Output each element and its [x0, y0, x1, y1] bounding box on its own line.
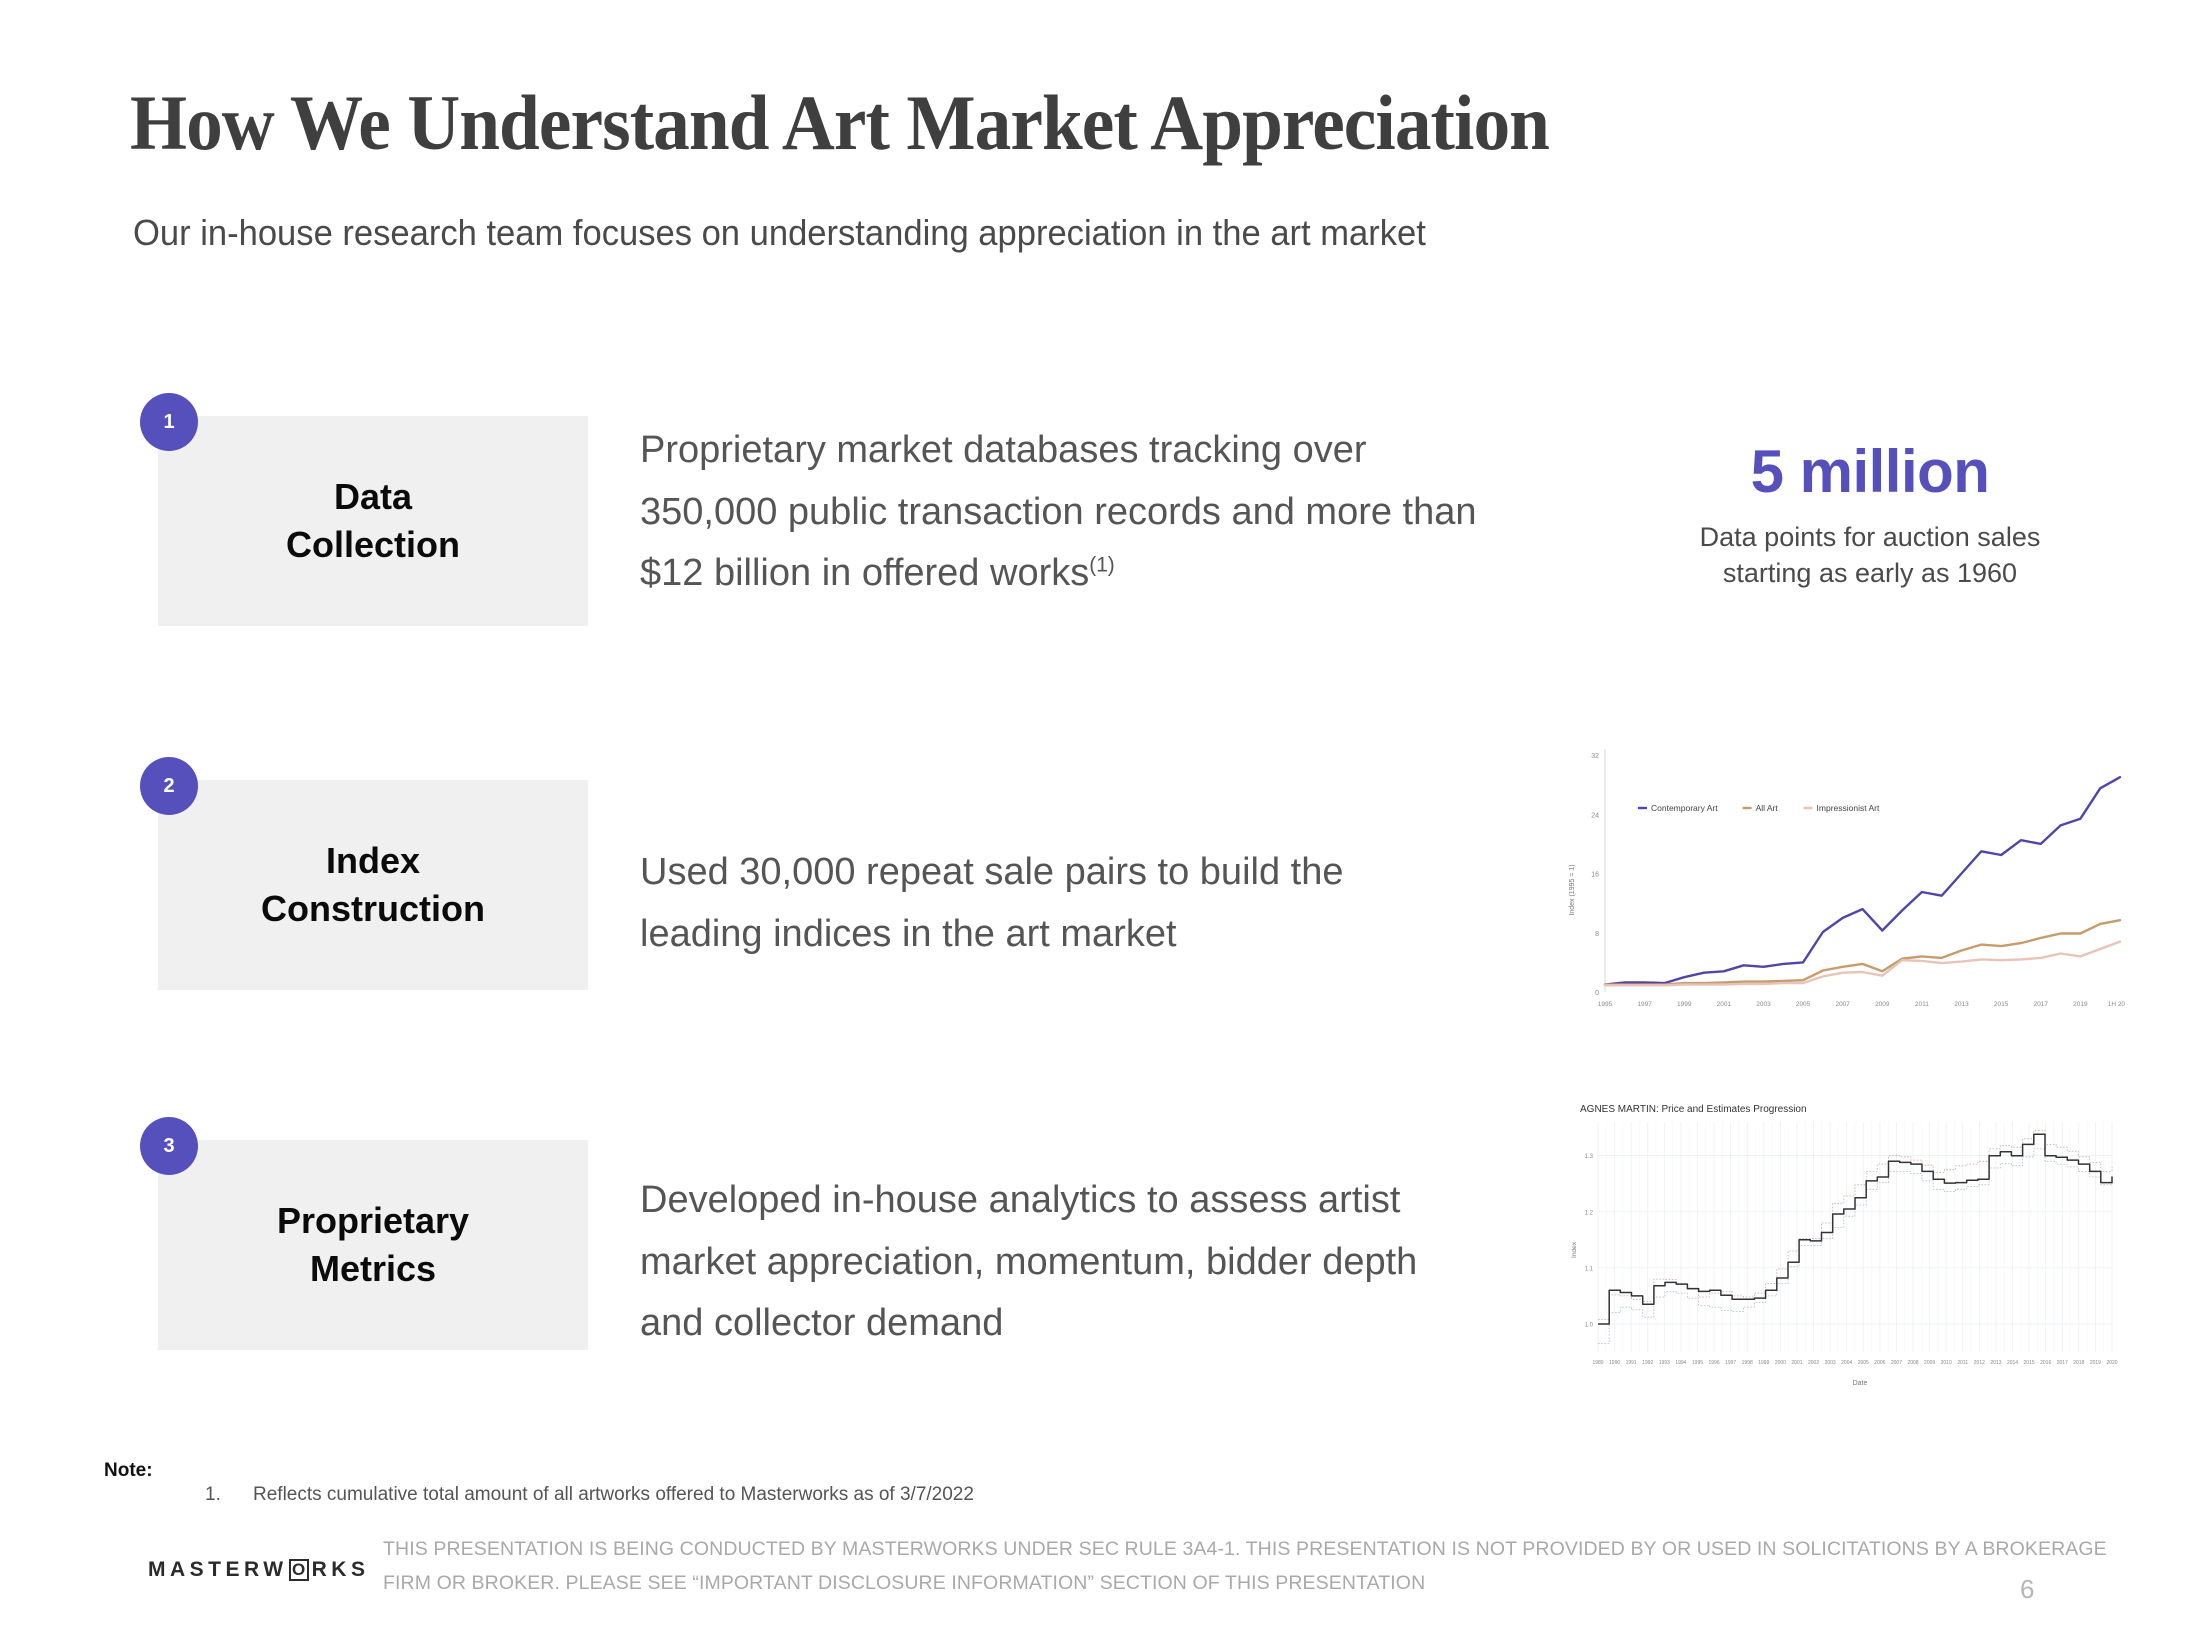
svg-text:All Art: All Art	[1756, 803, 1779, 813]
svg-text:1994: 1994	[1675, 1360, 1686, 1366]
svg-text:1.2: 1.2	[1585, 1210, 1594, 1216]
step-description-3: Developed in-house analytics to assess a…	[640, 1170, 1540, 1355]
agnes-martin-chart: AGNES MARTIN: Price and Estimates Progre…	[1560, 1090, 2125, 1390]
masterworks-logo: MASTERWORKS	[148, 1558, 369, 1582]
logo-text-after: RKS	[312, 1558, 370, 1582]
svg-text:2003: 2003	[1756, 1001, 1771, 1008]
svg-text:2005: 2005	[1796, 1001, 1811, 1008]
index-chart-axes: 0816243219951997199920012003200520072009…	[1591, 749, 2125, 1008]
svg-text:1995: 1995	[1692, 1360, 1703, 1366]
svg-text:2011: 2011	[1915, 1001, 1929, 1008]
svg-text:2005: 2005	[1858, 1360, 1869, 1366]
index-chart-ylabel: Index (1995 = 1)	[1569, 864, 1576, 915]
svg-text:2004: 2004	[1841, 1360, 1852, 1366]
agnes-martin-svg: AGNES MARTIN: Price and Estimates Progre…	[1560, 1090, 2125, 1390]
svg-text:1989: 1989	[1592, 1360, 1603, 1366]
svg-text:2012: 2012	[1974, 1360, 1985, 1366]
svg-text:2009: 2009	[1924, 1360, 1935, 1366]
agnes-martin-grid	[1598, 1122, 2112, 1352]
svg-text:2015: 2015	[2024, 1360, 2035, 1366]
svg-text:16: 16	[1591, 872, 1599, 879]
page-title: How We Understand Art Market Appreciatio…	[130, 78, 1549, 168]
step-badge-3: 3	[140, 1117, 198, 1175]
svg-text:2006: 2006	[1874, 1360, 1885, 1366]
svg-text:2009: 2009	[1875, 1001, 1890, 1008]
svg-text:32: 32	[1591, 753, 1599, 760]
step-box-1: Data Collection	[158, 416, 588, 626]
svg-text:2013: 2013	[1990, 1360, 2001, 1366]
svg-text:1999: 1999	[1677, 1001, 1692, 1008]
step-box-3: Proprietary Metrics	[158, 1140, 588, 1350]
svg-text:1.3: 1.3	[1585, 1154, 1594, 1160]
svg-text:2017: 2017	[2034, 1001, 2049, 1008]
svg-text:1.0: 1.0	[1585, 1322, 1594, 1328]
svg-text:2007: 2007	[1891, 1360, 1902, 1366]
svg-text:1992: 1992	[1642, 1360, 1653, 1366]
svg-text:2018: 2018	[2073, 1360, 2084, 1366]
svg-text:2008: 2008	[1907, 1360, 1918, 1366]
note-number: 1.	[205, 1484, 253, 1506]
svg-text:1993: 1993	[1659, 1360, 1670, 1366]
svg-text:2010: 2010	[1941, 1360, 1952, 1366]
svg-text:Contemporary Art: Contemporary Art	[1651, 803, 1718, 813]
svg-text:2000: 2000	[1775, 1360, 1786, 1366]
note-item: 1.Reflects cumulative total amount of al…	[205, 1484, 974, 1506]
svg-text:0: 0	[1595, 990, 1599, 997]
svg-text:1990: 1990	[1609, 1360, 1620, 1366]
step-badge-2: 2	[140, 757, 198, 815]
step-description-2: Used 30,000 repeat sale pairs to build t…	[640, 842, 1540, 965]
svg-text:2019: 2019	[2073, 1001, 2088, 1008]
svg-text:1991: 1991	[1626, 1360, 1637, 1366]
logo-boxed-o: O	[289, 1559, 309, 1581]
step-box-2: Index Construction	[158, 780, 588, 990]
stat-value: 5 million	[1650, 440, 2090, 503]
step-box-label-2: Index Construction	[261, 837, 485, 932]
step-box-label-1: Data Collection	[286, 473, 460, 568]
agnes-martin-ylabel: Index	[1571, 1241, 1578, 1258]
svg-text:2014: 2014	[2007, 1360, 2018, 1366]
svg-text:1997: 1997	[1725, 1360, 1736, 1366]
stat-callout: 5 million Data points for auction sales …	[1650, 440, 2090, 592]
svg-text:2011: 2011	[1957, 1360, 1968, 1366]
svg-text:1997: 1997	[1637, 1001, 1652, 1008]
svg-text:1996: 1996	[1709, 1360, 1720, 1366]
svg-text:2002: 2002	[1808, 1360, 1819, 1366]
svg-text:1999: 1999	[1758, 1360, 1769, 1366]
disclaimer-text: THIS PRESENTATION IS BEING CONDUCTED BY …	[383, 1533, 2173, 1600]
svg-text:2001: 2001	[1717, 1001, 1732, 1008]
step-description-text-1: Proprietary market databases tracking ov…	[640, 429, 1477, 594]
art-market-index-svg: 0816243219951997199920012003200520072009…	[1560, 730, 2125, 1030]
svg-text:1995: 1995	[1598, 1001, 1613, 1008]
note-label: Note:	[104, 1460, 153, 1482]
note-text: Reflects cumulative total amount of all …	[253, 1484, 974, 1505]
art-market-index-chart: 0816243219951997199920012003200520072009…	[1560, 730, 2125, 1030]
svg-text:1H 2021: 1H 2021	[2108, 1001, 2125, 1008]
agnes-martin-xlabel: Date	[1853, 1380, 1868, 1387]
stat-caption: Data points for auction sales starting a…	[1650, 519, 2090, 592]
svg-text:24: 24	[1591, 812, 1599, 819]
svg-text:2003: 2003	[1825, 1360, 1836, 1366]
svg-text:2017: 2017	[2057, 1360, 2068, 1366]
svg-text:8: 8	[1595, 931, 1599, 938]
svg-text:2001: 2001	[1791, 1360, 1802, 1366]
svg-text:1998: 1998	[1742, 1360, 1753, 1366]
logo-text-before: MASTERW	[148, 1558, 288, 1582]
step-description-1: Proprietary market databases tracking ov…	[640, 420, 1540, 605]
index-chart-legend: Contemporary ArtAll ArtImpressionist Art	[1638, 803, 1880, 813]
step-box-label-3: Proprietary Metrics	[277, 1197, 469, 1292]
svg-text:2019: 2019	[2090, 1360, 2101, 1366]
page-subtitle: Our in-house research team focuses on un…	[133, 212, 1426, 254]
svg-text:2016: 2016	[2040, 1360, 2051, 1366]
svg-text:2015: 2015	[1994, 1001, 2009, 1008]
agnes-martin-title: AGNES MARTIN: Price and Estimates Progre…	[1580, 1104, 1807, 1115]
svg-text:1.1: 1.1	[1585, 1266, 1594, 1272]
page-number: 6	[2020, 1574, 2034, 1605]
svg-text:Impressionist Art: Impressionist Art	[1817, 803, 1880, 813]
svg-text:2020: 2020	[2106, 1360, 2117, 1366]
footnote-marker-1: (1)	[1089, 553, 1115, 576]
svg-text:2013: 2013	[1954, 1001, 1969, 1008]
step-badge-1: 1	[140, 393, 198, 451]
svg-text:2007: 2007	[1835, 1001, 1850, 1008]
